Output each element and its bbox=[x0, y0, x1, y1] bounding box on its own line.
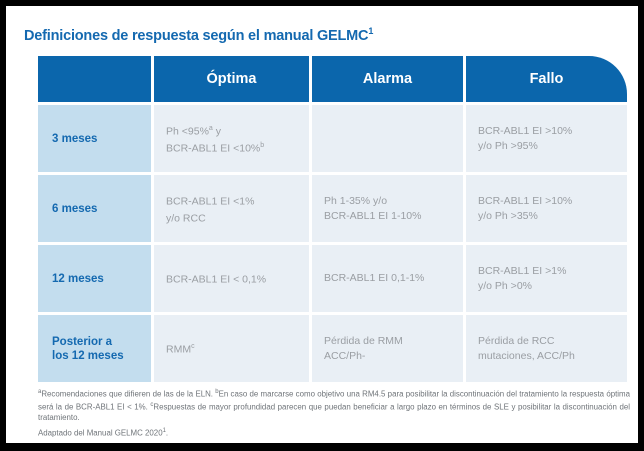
table-header-row: Óptima Alarma Fallo bbox=[38, 56, 626, 102]
table-row: 3 meses Ph <95%a y BCR-ABL1 EI <10%b BCR… bbox=[38, 105, 626, 172]
table-row: Posterior alos 12 meses RMMc Pérdida de … bbox=[38, 315, 626, 382]
cell-line-2: y/o RCC bbox=[166, 209, 303, 226]
footnote: aRecomendaciones que difieren de las de … bbox=[38, 387, 630, 439]
cell-line-1: BCR-ABL1 EI >10% bbox=[478, 194, 621, 209]
header-cell-fallo: Fallo bbox=[466, 56, 627, 102]
page-title: Definiciones de respuesta según el manua… bbox=[24, 26, 373, 44]
cell-superscript: b bbox=[260, 142, 264, 149]
cell-6meses-optima: BCR-ABL1 EI <1% y/o RCC bbox=[154, 175, 309, 242]
cell-line-1: BCR-ABL1 EI < 0,1% bbox=[166, 270, 303, 287]
footnote-source: Adaptado del Manual GELMC 20201. bbox=[38, 426, 630, 439]
cell-6meses-alarma: Ph 1-35% y/o BCR-ABL1 EI 1-10% bbox=[312, 175, 463, 242]
cell-line-2: y/o Ph >0% bbox=[478, 279, 621, 294]
cell-line-1: BCR-ABL1 EI 0,1-1% bbox=[324, 271, 457, 286]
cell-line-1: Ph 1-35% y/o bbox=[324, 194, 457, 209]
header-cell-alarma: Alarma bbox=[312, 56, 463, 102]
row-label-posterior-12-meses: Posterior alos 12 meses bbox=[38, 315, 151, 382]
row-label-6-meses: 6 meses bbox=[38, 175, 151, 242]
row-label-line1: 12 meses bbox=[52, 273, 104, 285]
row-label-line1: Posterior a bbox=[52, 336, 112, 348]
cell-line-1: BCR-ABL1 EI <1% bbox=[166, 192, 303, 209]
cell-text-tail: y bbox=[213, 125, 221, 137]
cell-3meses-alarma bbox=[312, 105, 463, 172]
cell-superscript: c bbox=[191, 343, 195, 350]
cell-text: BCR-ABL1 EI <10% bbox=[166, 142, 260, 154]
row-label-line2: los 12 meses bbox=[52, 350, 124, 362]
cell-12meses-optima: BCR-ABL1 EI < 0,1% bbox=[154, 245, 309, 312]
cell-line-2: ACC/Ph- bbox=[324, 349, 457, 364]
cell-line-1: BCR-ABL1 EI >1% bbox=[478, 264, 621, 279]
cell-line-2: y/o Ph >95% bbox=[478, 139, 621, 154]
cell-line-1: Ph <95%a y bbox=[166, 122, 303, 139]
cell-line-1: BCR-ABL1 EI >10% bbox=[478, 124, 621, 139]
footnote-source-text: Adaptado del Manual GELMC 2020 bbox=[38, 429, 163, 438]
header-cell-empty bbox=[38, 56, 151, 102]
cell-text: Ph <95% bbox=[166, 125, 209, 137]
page-title-superscript: 1 bbox=[368, 26, 373, 36]
cell-posterior-fallo: Pérdida de RCC mutaciones, ACC/Ph bbox=[466, 315, 627, 382]
table-row: 12 meses BCR-ABL1 EI < 0,1% BCR-ABL1 EI … bbox=[38, 245, 626, 312]
cell-12meses-fallo: BCR-ABL1 EI >1% y/o Ph >0% bbox=[466, 245, 627, 312]
cell-line-2: mutaciones, ACC/Ph bbox=[478, 349, 621, 364]
cell-line-2: BCR-ABL1 EI <10%b bbox=[166, 139, 303, 156]
page-title-text: Definiciones de respuesta según el manua… bbox=[24, 28, 368, 44]
table-row: 6 meses BCR-ABL1 EI <1% y/o RCC Ph 1-35%… bbox=[38, 175, 626, 242]
cell-line-1: RMMc bbox=[166, 340, 303, 357]
cell-12meses-alarma: BCR-ABL1 EI 0,1-1% bbox=[312, 245, 463, 312]
cell-posterior-optima: RMMc bbox=[154, 315, 309, 382]
row-label-line1: 3 meses bbox=[52, 133, 97, 145]
header-cell-optima: Óptima bbox=[154, 56, 309, 102]
cell-text: BCR-ABL1 EI <1% bbox=[166, 195, 254, 207]
response-definitions-table: Óptima Alarma Fallo 3 meses Ph <95%a y B… bbox=[38, 56, 626, 385]
footnote-source-tail: . bbox=[166, 429, 168, 438]
cell-3meses-fallo: BCR-ABL1 EI >10% y/o Ph >95% bbox=[466, 105, 627, 172]
cell-line-2: y/o Ph >35% bbox=[478, 209, 621, 224]
cell-line-1: Pérdida de RCC bbox=[478, 334, 621, 349]
cell-line-1: Pérdida de RMM bbox=[324, 334, 457, 349]
cell-line-2: BCR-ABL1 EI 1-10% bbox=[324, 209, 457, 224]
row-label-line1: 6 meses bbox=[52, 203, 97, 215]
cell-6meses-fallo: BCR-ABL1 EI >10% y/o Ph >35% bbox=[466, 175, 627, 242]
slide-page: Definiciones de respuesta según el manua… bbox=[6, 6, 638, 443]
cell-posterior-alarma: Pérdida de RMM ACC/Ph- bbox=[312, 315, 463, 382]
cell-text: RMM bbox=[166, 344, 191, 356]
cell-text: BCR-ABL1 EI < 0,1% bbox=[166, 274, 266, 286]
cell-text: y/o RCC bbox=[166, 212, 206, 224]
row-label-12-meses: 12 meses bbox=[38, 245, 151, 312]
cell-3meses-optima: Ph <95%a y BCR-ABL1 EI <10%b bbox=[154, 105, 309, 172]
footnote-part-a: Recomendaciones que difieren de las de l… bbox=[41, 390, 215, 399]
row-label-3-meses: 3 meses bbox=[38, 105, 151, 172]
